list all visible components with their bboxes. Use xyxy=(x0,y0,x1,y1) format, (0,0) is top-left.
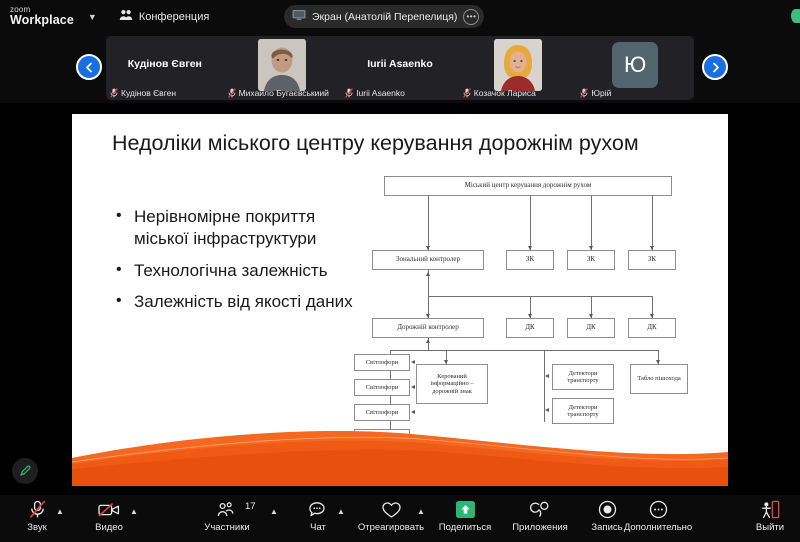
screen-share-label: Экран (Анатолій Перепелиця) xyxy=(312,11,457,23)
diagram-node-zk: ЗК xyxy=(628,250,676,270)
participant-nametag: Козачок Лариса xyxy=(463,88,573,98)
filmstrip-prev-button[interactable] xyxy=(76,54,102,80)
share-screen-icon xyxy=(455,499,476,520)
heart-reaction-icon xyxy=(381,499,402,520)
microphone-muted-icon xyxy=(29,499,46,520)
slide-decoration-wave xyxy=(72,412,728,486)
diagram-node-dk: ДК xyxy=(506,318,554,338)
chat-options-chevron-icon[interactable]: ▲ xyxy=(337,507,345,516)
share-screen-label: Поделиться xyxy=(439,522,491,533)
diagram-node-pedestrian-board: Табло пішохода xyxy=(630,364,688,394)
list-item: Залежність від якості даних xyxy=(114,291,364,313)
diagram-node-zk: ЗК xyxy=(506,250,554,270)
list-item: Технологічна залежність xyxy=(114,260,364,282)
participant-name-label: Кудінов Євген xyxy=(121,88,176,98)
chevron-down-icon[interactable]: ▼ xyxy=(88,12,97,22)
participant-nametag: Iurii Asaenko xyxy=(345,88,455,98)
microphone-muted-icon xyxy=(580,88,588,98)
diagram-node-dk: ДК xyxy=(567,318,615,338)
presentation-slide[interactable]: Недоліки міського центру керування дорож… xyxy=(72,114,728,486)
participant-nametag: Михайло Бугаєвськиий xyxy=(228,88,338,98)
participant-tile[interactable]: Кудінов Євген Кудінов Євген xyxy=(106,36,224,100)
slide-title: Недоліки міського центру керування дорож… xyxy=(112,130,682,158)
react-button[interactable]: Отреагировать xyxy=(348,499,434,539)
participant-video-thumbnail xyxy=(494,39,542,91)
participant-nametag: Кудінов Євген xyxy=(110,88,220,98)
participant-tile[interactable]: Михайло Бугаєвськиий xyxy=(224,36,342,100)
leave-meeting-label: Выйти xyxy=(756,522,784,533)
audio-button[interactable]: Звук xyxy=(0,499,74,539)
apps-label: Приложения xyxy=(512,522,568,533)
leave-meeting-icon xyxy=(760,499,780,520)
participant-filmstrip: Кудінов Євген Кудінов Євген xyxy=(0,33,800,103)
diagram-node-dk: ДК xyxy=(628,318,676,338)
react-label: Отреагировать xyxy=(358,522,424,533)
participant-tile[interactable]: Ю Юрій xyxy=(576,36,694,100)
microphone-muted-icon xyxy=(110,88,118,98)
chevron-right-icon xyxy=(710,62,721,73)
diagram-node-traffic-lights: Світлофори xyxy=(354,354,410,371)
people-icon xyxy=(119,8,133,26)
meeting-toolbar: Звук ▲ Видео ▲ Уч xyxy=(0,495,800,542)
camera-muted-icon xyxy=(98,499,120,520)
participants-options-chevron-icon[interactable]: ▲ xyxy=(270,507,278,516)
header-status-indicator xyxy=(791,9,800,23)
participants-count: 17 xyxy=(245,501,256,512)
diagram-node-traffic-lights: Світлофори xyxy=(354,379,410,396)
participants-icon xyxy=(216,499,238,520)
record-icon xyxy=(598,499,617,520)
diagram-node-transport-detector: Детектори транспорту xyxy=(552,364,614,390)
react-options-chevron-icon[interactable]: ▲ xyxy=(417,507,425,516)
diagram-node-zonal-controller: Зональний контролер xyxy=(372,250,484,270)
screen-share-indicator[interactable]: Экран (Анатолій Перепелиця) ••• xyxy=(284,5,484,28)
more-label: Дополнительно xyxy=(624,522,692,533)
pencil-annotate-icon xyxy=(18,464,32,478)
participant-video-thumbnail xyxy=(258,39,306,91)
participant-display-name: Iurii Asaenko xyxy=(363,58,437,70)
monitor-share-icon xyxy=(292,8,306,26)
participant-display-name: Кудінов Євген xyxy=(124,58,206,70)
zoom-workplace-logo: zoom Workplace xyxy=(10,6,74,28)
more-icon xyxy=(649,499,668,520)
video-button[interactable]: Видео xyxy=(72,499,146,539)
participant-tile[interactable]: Козачок Лариса xyxy=(459,36,577,100)
audio-label: Звук xyxy=(27,522,46,533)
zoom-meeting-window: zoom Workplace ▼ Конференция xyxy=(0,0,800,542)
participant-name-label: Михайло Бугаєвськиий xyxy=(239,88,329,98)
conference-tab[interactable]: Конференция xyxy=(119,8,209,26)
chat-icon xyxy=(308,499,328,520)
diagram-node-managed-sign: Керований інформаційно – дорожній знак xyxy=(416,364,488,404)
list-item: Нерівномірне покриття міської інфраструк… xyxy=(114,206,364,251)
apps-icon xyxy=(529,499,551,520)
microphone-muted-icon xyxy=(345,88,353,98)
participant-name-label: Козачок Лариса xyxy=(474,88,536,98)
microphone-muted-icon xyxy=(463,88,471,98)
more-button[interactable]: Дополнительно xyxy=(615,499,701,539)
filmstrip-tiles: Кудінов Євген Кудінов Євген xyxy=(106,36,694,100)
participant-tile[interactable]: Iurii Asaenko Iurii Asaenko xyxy=(341,36,459,100)
diagram-node-road-controller: Дорожній контролер xyxy=(372,318,484,338)
share-screen-button[interactable]: Поделиться xyxy=(428,499,502,539)
brand-workplace-label: Workplace xyxy=(10,14,74,27)
chevron-left-icon xyxy=(84,62,95,73)
slide-diagram: Міський центр керування дорожнім рухом З… xyxy=(368,176,714,436)
app-header: zoom Workplace ▼ Конференция xyxy=(0,0,800,33)
participant-nametag: Юрій xyxy=(580,88,690,98)
annotate-button[interactable] xyxy=(12,458,38,484)
slide-bullet-list: Нерівномірне покриття міської інфраструк… xyxy=(114,206,364,323)
screen-share-more-icon[interactable]: ••• xyxy=(463,9,479,25)
diagram-node-zk: ЗК xyxy=(567,250,615,270)
shared-screen-stage: Недоліки міського центру керування дорож… xyxy=(0,103,800,495)
audio-options-chevron-icon[interactable]: ▲ xyxy=(56,507,64,516)
participant-name-label: Iurii Asaenko xyxy=(356,88,405,98)
leave-meeting-button[interactable]: Выйти xyxy=(733,499,800,539)
diagram-node-root: Міський центр керування дорожнім рухом xyxy=(384,176,672,196)
filmstrip-next-button[interactable] xyxy=(702,54,728,80)
conference-label: Конференция xyxy=(139,11,209,23)
avatar: Ю xyxy=(612,42,658,88)
video-label: Видео xyxy=(95,522,123,533)
video-options-chevron-icon[interactable]: ▲ xyxy=(130,507,138,516)
participants-label: Участники xyxy=(204,522,249,533)
microphone-muted-icon xyxy=(228,88,236,98)
chat-label: Чат xyxy=(310,522,326,533)
participant-name-label: Юрій xyxy=(591,88,611,98)
apps-button[interactable]: Приложения xyxy=(503,499,577,539)
chat-button[interactable]: Чат xyxy=(281,499,355,539)
